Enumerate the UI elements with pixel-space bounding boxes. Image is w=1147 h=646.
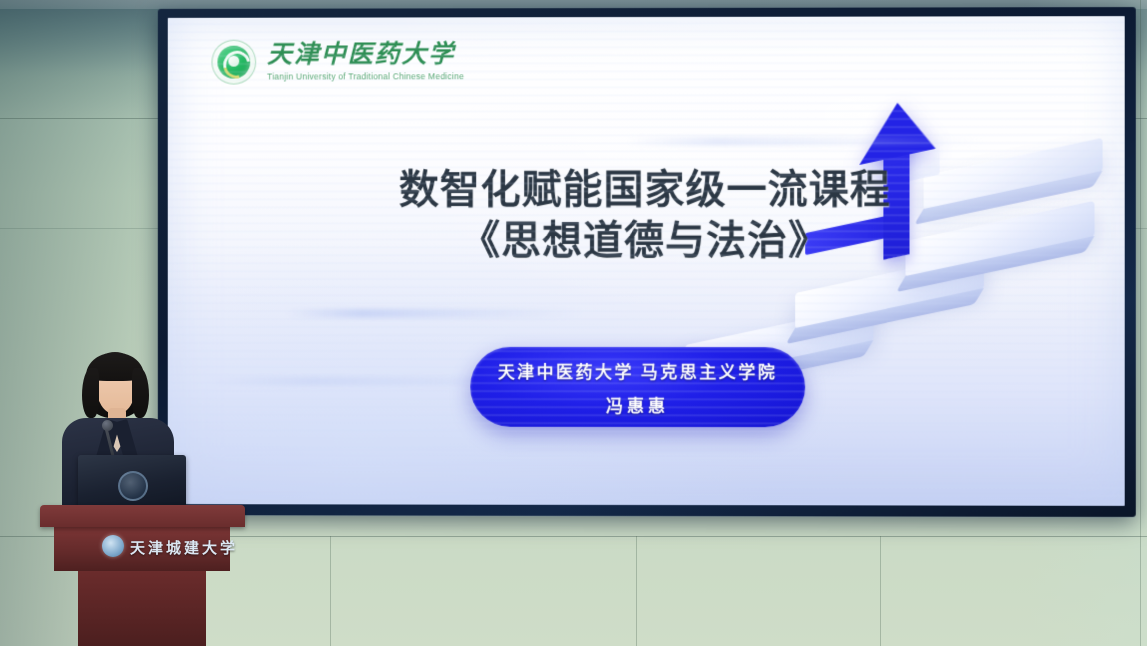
stair-step-2 bbox=[795, 253, 984, 329]
logo-english-name: Tianjin University of Traditional Chines… bbox=[267, 73, 464, 82]
laptop-emblem-icon bbox=[118, 471, 148, 501]
rising-arrow bbox=[827, 103, 978, 293]
presenter-hair-left bbox=[82, 368, 99, 418]
lectern: 天津城建大学 bbox=[40, 505, 245, 646]
stair-step-4 bbox=[924, 138, 1103, 210]
arrow-highlight bbox=[861, 140, 939, 191]
wall-vseam-b bbox=[636, 536, 637, 646]
slide-title-line2: 《思想道德与法治》 bbox=[168, 218, 1125, 265]
lectern-base bbox=[78, 569, 206, 646]
wall-vseam-a bbox=[330, 536, 331, 646]
lectern-top bbox=[40, 505, 245, 527]
slide-screen: 天津中医药大学 Tianjin University of Traditiona… bbox=[168, 16, 1125, 506]
arrow-tail bbox=[805, 213, 900, 255]
tcu-emblem-icon bbox=[102, 535, 124, 557]
university-logo: 天津中医药大学 Tianjin University of Traditiona… bbox=[211, 39, 464, 84]
slide-band-1 bbox=[287, 309, 586, 318]
wall-vseam-c bbox=[880, 536, 881, 646]
lectern-label: 天津城建大学 bbox=[130, 537, 238, 558]
microphone-head bbox=[102, 420, 113, 431]
arrow-stem bbox=[883, 134, 909, 260]
stair-step-3 bbox=[905, 201, 1094, 277]
podium-laptop[interactable] bbox=[78, 455, 186, 511]
screen-scanlines bbox=[168, 16, 1125, 506]
presenter-hair-right bbox=[132, 368, 149, 418]
slide-title: 数智化赋能国家级一流课程 《思想道德与法治》 bbox=[168, 167, 1125, 266]
wall-vseam-d bbox=[1140, 0, 1141, 646]
lecture-hall-scene: 天津中医药大学 Tianjin University of Traditiona… bbox=[0, 0, 1147, 646]
presenter-badge: 天津中医药大学 马克思主义学院 冯惠惠 bbox=[470, 347, 805, 427]
arrow-head bbox=[859, 95, 935, 165]
upward-arrow-staircase-graphic bbox=[677, 96, 1109, 497]
logo-chinese-name: 天津中医药大学 bbox=[267, 43, 464, 68]
tjutcm-emblem-icon bbox=[211, 40, 256, 85]
presentation-display[interactable]: 天津中医药大学 Tianjin University of Traditiona… bbox=[158, 7, 1136, 517]
slide-title-line1: 数智化赋能国家级一流课程 bbox=[168, 167, 1125, 215]
screen-glare bbox=[168, 16, 1125, 506]
presenter-affiliation: 天津中医药大学 马克思主义学院 bbox=[498, 357, 778, 382]
presenter-name: 冯惠惠 bbox=[606, 391, 669, 416]
slide-band-3 bbox=[626, 137, 987, 146]
